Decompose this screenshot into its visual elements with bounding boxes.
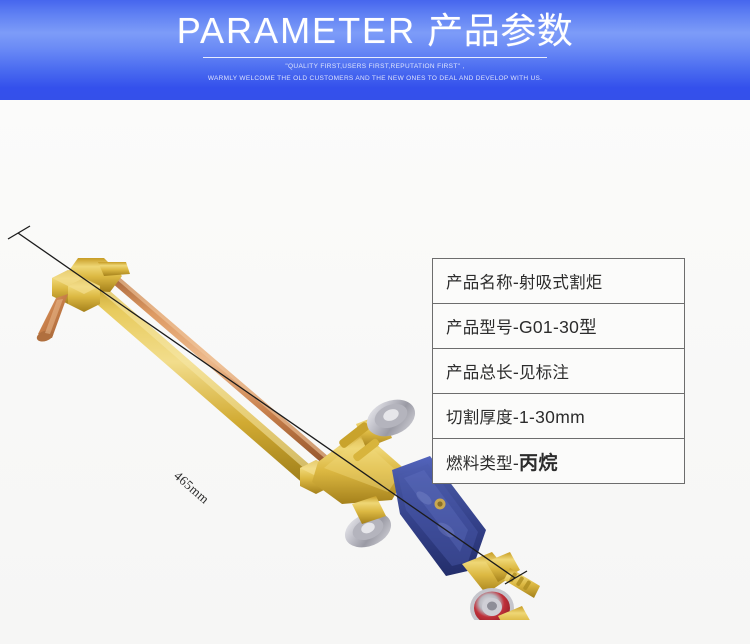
content-area: 465mm 产品名称-射吸式割炬 产品型号-G01-30型 产品总长-见标注 切… [0, 100, 750, 644]
page-title-en: PARAMETER [177, 10, 416, 51]
banner-inner: PARAMETER 产品参数 "QUALITY FIRST,USERS FIRS… [0, 0, 750, 100]
spec-row-product-name: 产品名称-射吸式割炬 [446, 269, 602, 293]
spec-table: 产品名称-射吸式割炬 产品型号-G01-30型 产品总长-见标注 切割厚度-1-… [432, 258, 685, 484]
page-banner: PARAMETER 产品参数 "QUALITY FIRST,USERS FIRS… [0, 0, 750, 100]
product-parameter-page: PARAMETER 产品参数 "QUALITY FIRST,USERS FIRS… [0, 0, 750, 644]
spec-row-cutting-thickness: 切割厚度-1-30mm [446, 404, 585, 428]
banner-subtitle: "QUALITY FIRST,USERS FIRST,REPUTATION FI… [0, 61, 750, 85]
brass-main-tube [76, 272, 318, 486]
table-row: 切割厚度-1-30mm [433, 394, 684, 439]
table-row: 产品型号-G01-30型 [433, 304, 684, 349]
table-row: 产品名称-射吸式割炬 [433, 259, 684, 304]
table-row: 燃料类型-丙烷 [433, 439, 684, 484]
hose-connectors [462, 552, 548, 620]
title-underline [203, 57, 547, 58]
page-title-cn: 产品参数 [427, 11, 573, 52]
cutting-nozzle [35, 294, 68, 344]
spec-row-model: 产品型号-G01-30型 [446, 314, 597, 339]
banner-subtitle-line1: "QUALITY FIRST,USERS FIRST,REPUTATION FI… [285, 63, 464, 70]
banner-subtitle-line2: WARMLY WELCOME THE OLD CUSTOMERS AND THE… [0, 73, 750, 85]
table-row: 产品总长-见标注 [433, 349, 684, 394]
fuel-control-knob[interactable] [340, 496, 396, 554]
page-title: PARAMETER 产品参数 [0, 9, 750, 54]
spec-row-fuel-type: 燃料类型-丙烷 [446, 448, 558, 475]
spec-row-total-length: 产品总长-见标注 [446, 359, 569, 383]
copper-tube [112, 276, 330, 465]
